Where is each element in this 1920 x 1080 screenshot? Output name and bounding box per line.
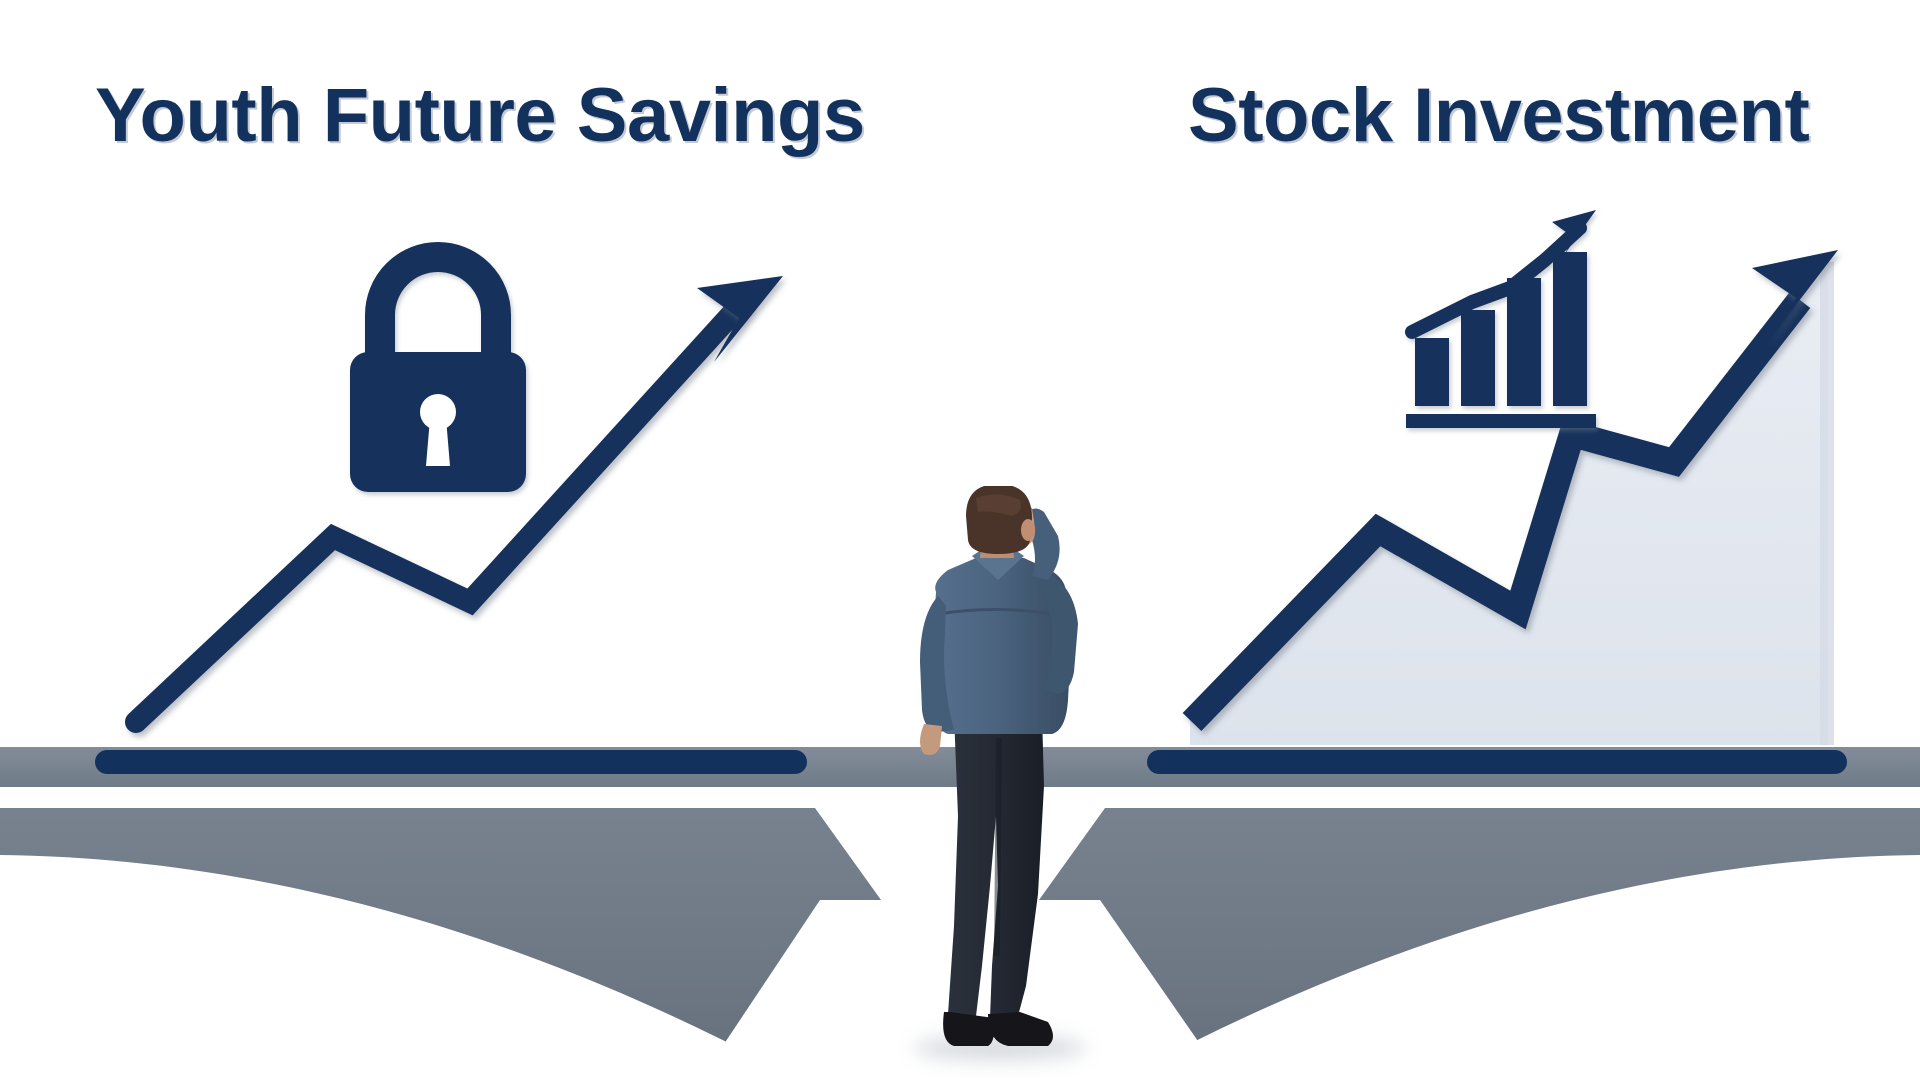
chart-icon-baseline bbox=[1406, 414, 1596, 428]
area-chart-arrowhead bbox=[1752, 250, 1838, 344]
left-trend-line bbox=[136, 305, 740, 722]
figure-shoe-left bbox=[943, 1012, 994, 1046]
left-platform-bar bbox=[95, 750, 807, 774]
padlock-keyhole-circle bbox=[420, 394, 456, 430]
figure-shoe-right bbox=[988, 1012, 1053, 1046]
figure-hand-left bbox=[920, 724, 942, 755]
chart-icon-trend-line bbox=[1412, 228, 1580, 332]
page-title-right: Stock Investment bbox=[1188, 78, 1809, 154]
upward-zigzag-arrow bbox=[136, 276, 783, 722]
area-chart-fill bbox=[1190, 262, 1828, 745]
chart-icon-bar-1 bbox=[1415, 338, 1449, 406]
infographic-canvas: Youth Future Savings Stock Investment bbox=[0, 0, 1920, 1080]
figure-ear bbox=[1021, 519, 1035, 541]
chart-icon-bar-4 bbox=[1553, 252, 1587, 406]
left-arrowhead bbox=[697, 276, 783, 362]
bar-chart-growth-icon bbox=[1406, 210, 1596, 428]
padlock-body bbox=[350, 352, 526, 492]
fork-left-white-curve bbox=[0, 855, 800, 1080]
padlock-icon bbox=[350, 257, 526, 492]
road-shoulders bbox=[0, 808, 880, 1080]
chart-icon-bar-2 bbox=[1461, 310, 1495, 406]
page-title-left: Youth Future Savings bbox=[95, 78, 865, 154]
padlock-keyhole-stem bbox=[426, 418, 450, 466]
man-on-phone-back-view bbox=[892, 486, 1112, 1056]
chart-icon-arrowhead bbox=[1552, 210, 1596, 258]
padlock-shackle bbox=[380, 257, 496, 360]
fork-right-white-curve bbox=[1120, 855, 1920, 1080]
right-platform-bar bbox=[1147, 750, 1847, 774]
area-chart-trend-line bbox=[1192, 300, 1800, 722]
area-chart-upward-arrow bbox=[1190, 250, 1838, 745]
area-chart-right-edge bbox=[1820, 262, 1834, 745]
chart-icon-bar-3 bbox=[1507, 278, 1541, 406]
figure-illustration bbox=[892, 486, 1112, 1056]
